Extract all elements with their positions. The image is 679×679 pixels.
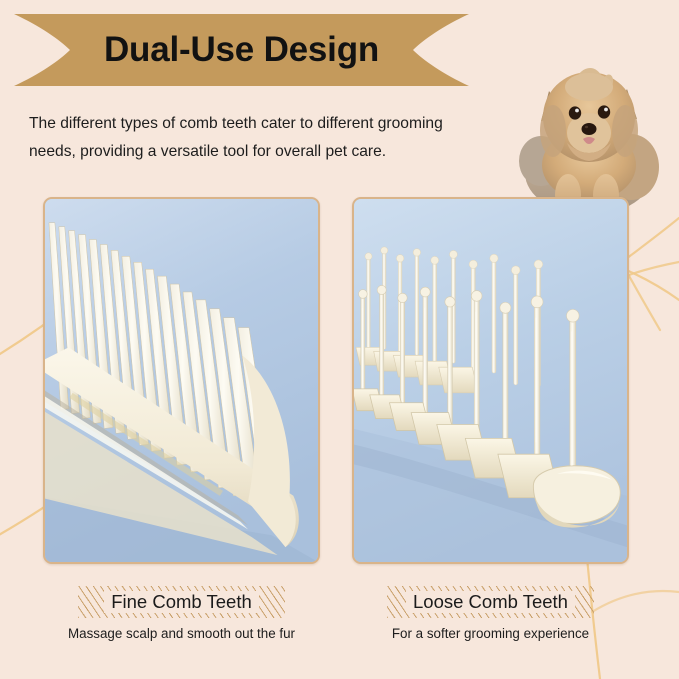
caption-loose-comb: Loose Comb Teeth For a softer grooming e… bbox=[352, 586, 629, 641]
caption-title-fine-comb: Fine Comb Teeth bbox=[104, 591, 259, 613]
caption-title-row: Fine Comb Teeth bbox=[43, 586, 320, 618]
caption-title-row: Loose Comb Teeth bbox=[352, 586, 629, 618]
dog-photo bbox=[505, 55, 673, 220]
product-panel-loose-comb[interactable] bbox=[352, 197, 629, 564]
loose-comb-teeth-photo bbox=[354, 199, 627, 562]
product-panel-fine-comb[interactable] bbox=[43, 197, 320, 564]
caption-subtitle-loose-comb: For a softer grooming experience bbox=[352, 626, 629, 641]
caption-title-loose-comb: Loose Comb Teeth bbox=[406, 591, 575, 613]
caption-subtitle-fine-comb: Massage scalp and smooth out the fur bbox=[43, 626, 320, 641]
caption-fine-comb: Fine Comb Teeth Massage scalp and smooth… bbox=[43, 586, 320, 641]
intro-paragraph: The different types of comb teeth cater … bbox=[29, 110, 481, 166]
yorkshire-terrier-illustration bbox=[505, 55, 673, 220]
fine-comb-teeth-photo bbox=[45, 199, 318, 562]
infographic-root: Dual-Use Design The different types of c… bbox=[0, 0, 679, 679]
page-title: Dual-Use Design bbox=[14, 10, 469, 90]
title-banner: Dual-Use Design bbox=[14, 10, 469, 90]
